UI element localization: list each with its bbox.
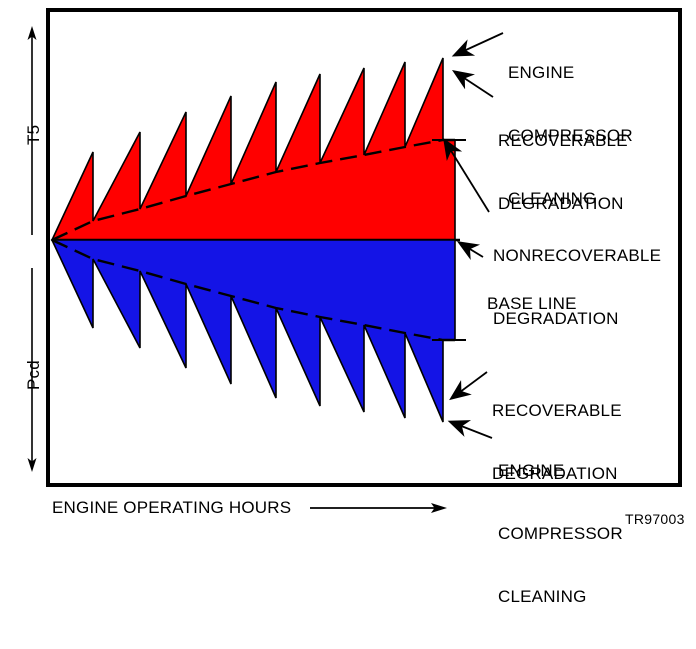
- leader-base-line: [460, 243, 483, 257]
- annotation-line: ENGINE: [508, 62, 633, 83]
- x-axis-label: ENGINE OPERATING HOURS: [52, 498, 291, 518]
- leader-recoverable-degradation-top: [455, 72, 493, 97]
- annotation-line: COMPRESSOR: [498, 523, 623, 544]
- degradation-chart-figure: ENGINE COMPRESSOR CLEANING RECOVERABLE D…: [0, 0, 696, 531]
- x-axis-arrow: [310, 503, 447, 513]
- y-axis-lower-label: Pcd: [24, 360, 44, 390]
- annotation-line: RECOVERABLE: [498, 130, 628, 151]
- lower-degradation-band: [52, 240, 466, 422]
- leader-engine-compressor-cleaning-bottom: [451, 422, 492, 438]
- y-axis-upper-label: T5: [24, 125, 44, 145]
- annotation-line: BASE LINE: [487, 293, 577, 314]
- leader-engine-compressor-cleaning-top: [455, 33, 503, 55]
- annotation-line: CLEANING: [498, 586, 623, 607]
- figure-code: TR97003: [625, 511, 685, 527]
- annotation-engine-compressor-cleaning-bottom: ENGINE COMPRESSOR CLEANING: [498, 418, 623, 649]
- upper-degradation-band: [52, 58, 466, 240]
- leader-recoverable-degradation-bottom: [452, 372, 487, 398]
- annotation-line: ENGINE: [498, 460, 623, 481]
- annotation-base-line: BASE LINE: [487, 251, 577, 356]
